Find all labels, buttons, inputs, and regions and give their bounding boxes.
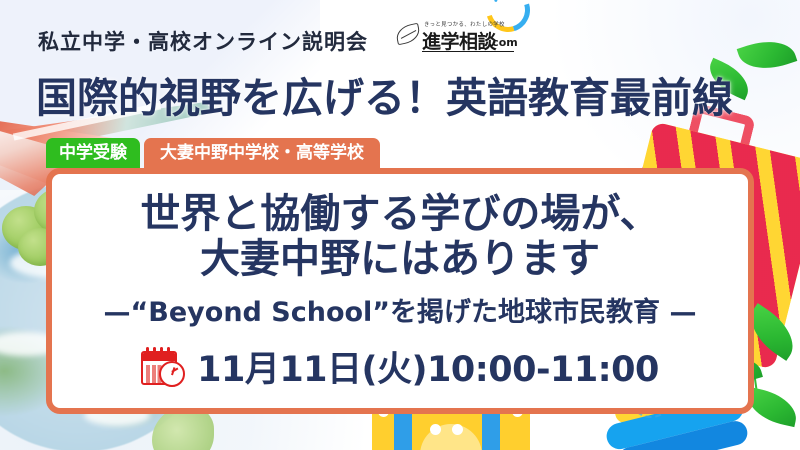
webinar-banner: 私立中学・高校オンライン説明会 きっと見つかる、わたしの学校 進学相談 .com… — [0, 0, 800, 450]
calendar-ring — [167, 347, 170, 354]
kicker-text: 私立中学・高校オンライン説明会 — [38, 26, 368, 56]
category-tabs: 中学受験 大妻中野中学校・高等学校 — [46, 138, 380, 168]
calendar-ring — [160, 347, 163, 354]
main-content-card: 世界と協働する学びの場が、 大妻中野にはあります —“Beyond School… — [46, 168, 754, 414]
card-subtitle: —“Beyond School”を掲げた地球市民教育 — — [104, 290, 697, 329]
event-date-row: 11月11日(火)10:00-11:00 — [141, 341, 659, 392]
card-headline-line1: 世界と協働する学びの場が、 — [140, 192, 659, 237]
brand-logo[interactable]: きっと見つかる、わたしの学校 進学相談 .com — [396, 20, 516, 56]
feather-icon — [394, 23, 421, 46]
logo-underline — [422, 51, 514, 52]
logo-brand-text: 進学相談 — [422, 27, 496, 54]
tab-exam-category[interactable]: 中学受験 — [46, 138, 140, 168]
calendar-clock-icon — [141, 347, 185, 387]
event-date-text: 11月11日(火)10:00-11:00 — [197, 341, 659, 392]
calendar-ring — [146, 347, 149, 354]
clock-face — [159, 361, 185, 387]
logo-suffix-text: .com — [488, 36, 518, 49]
calendar-ring — [153, 347, 156, 354]
calendar-header-bar — [143, 353, 175, 361]
backpack-dot — [430, 424, 441, 435]
backpack-dot — [452, 424, 463, 435]
card-headline-line2: 大妻中野にはあります — [200, 237, 600, 282]
page-title: 国際的視野を広げる！英語教育最前線 — [36, 64, 756, 124]
tab-school-name[interactable]: 大妻中野中学校・高等学校 — [144, 138, 380, 168]
